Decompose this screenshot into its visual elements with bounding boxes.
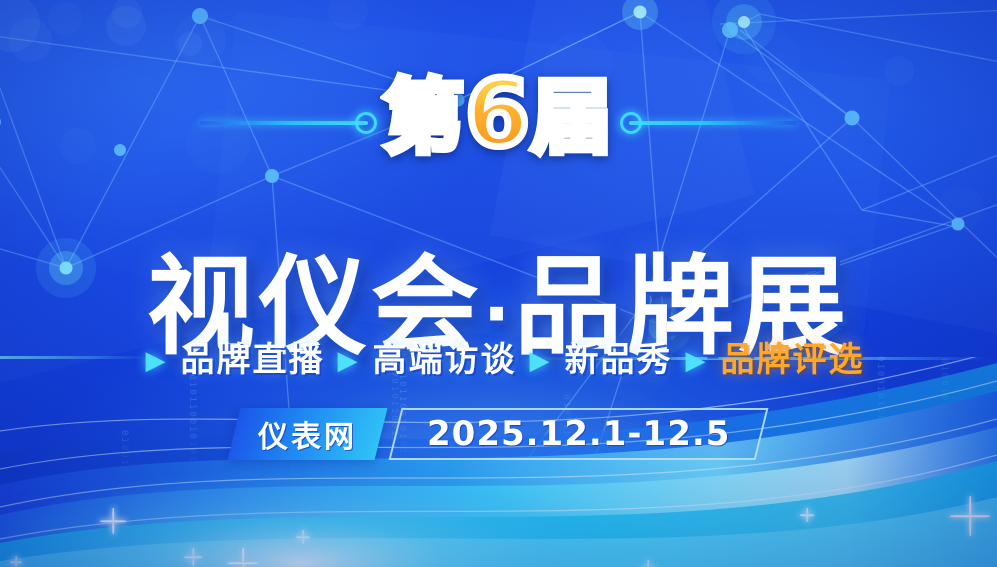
arrow-icon: ▶ [146, 346, 168, 376]
footer-bar: 仪表网 2025.12.1-12.5 [0, 408, 997, 464]
arrow-icon: ▶ [338, 346, 360, 376]
edition-badge: 第6届 [0, 68, 997, 160]
feature-item-3: 品牌评选 [721, 340, 865, 380]
edition-badge-suffix: 届 [532, 78, 614, 158]
banner-content: 第6届 视仪会·品牌展 ▶品牌直播▶高端访谈▶新品秀▶品牌评选 仪表网 2025… [0, 0, 997, 567]
arrow-icon: ▶ [686, 346, 708, 376]
edition-badge-number: 6 [465, 68, 531, 160]
feature-list: ▶品牌直播▶高端访谈▶新品秀▶品牌评选 [0, 332, 997, 381]
brand-chip: 仪表网 [228, 408, 388, 460]
date-range-label: 2025.12.1-12.5 [427, 414, 730, 454]
feature-item-0: 品牌直播 [181, 340, 325, 380]
feature-item-2: 新品秀 [565, 340, 673, 380]
promo-banner: 01001011001010110100101101001011010 0100… [0, 0, 997, 567]
feature-item-1: 高端访谈 [373, 340, 517, 380]
arrow-icon: ▶ [530, 346, 552, 376]
brand-label: 仪表网 [258, 412, 357, 456]
date-chip: 2025.12.1-12.5 [389, 408, 769, 460]
edition-badge-prefix: 第 [383, 78, 465, 158]
